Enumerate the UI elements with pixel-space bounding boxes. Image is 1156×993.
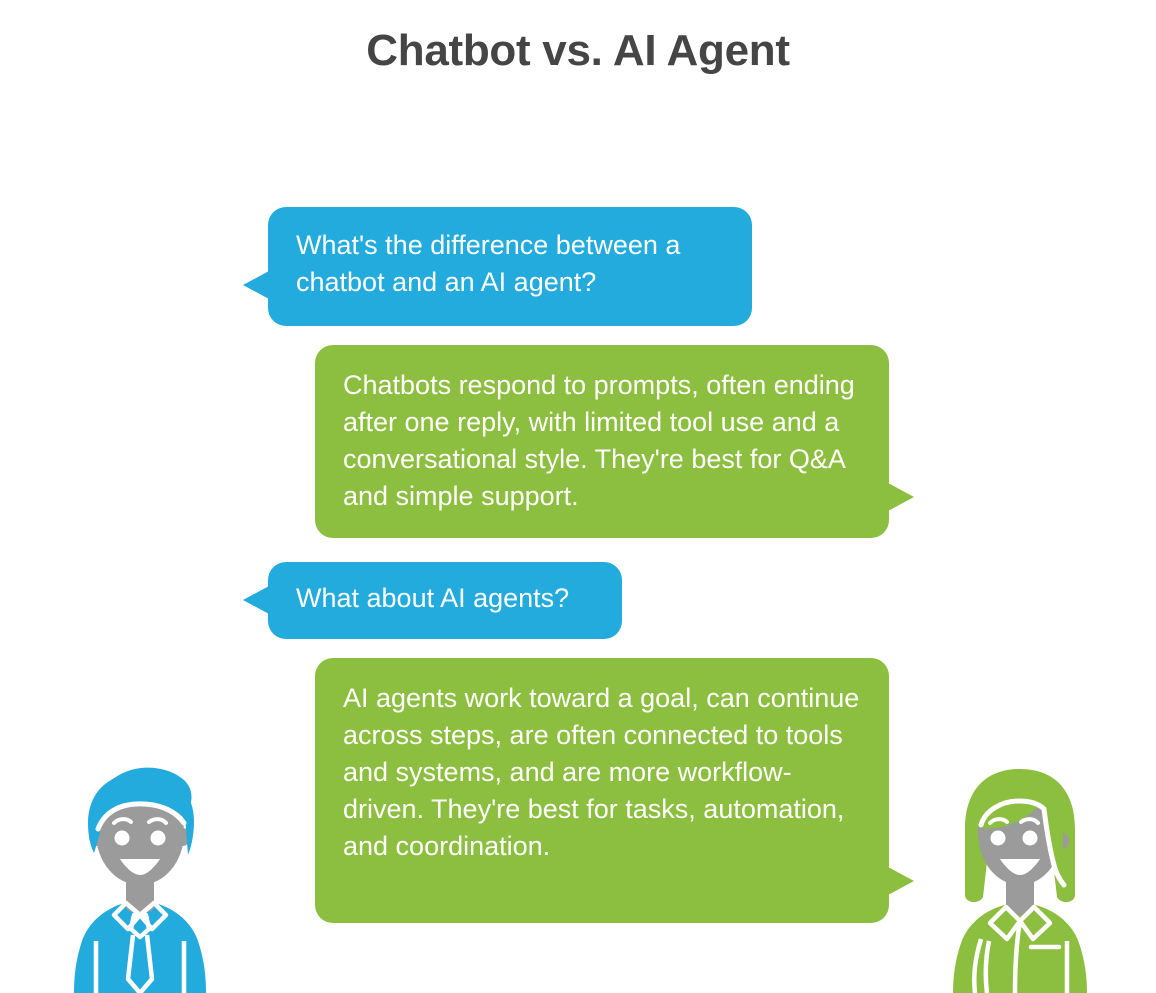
avatar-male-user	[70, 725, 210, 993]
chat-bubble-text: What about AI agents?	[296, 580, 596, 617]
bubble-tail-right-icon	[888, 483, 914, 511]
chat-bubble-text: AI agents work toward a goal, can contin…	[343, 680, 867, 865]
eye-right	[1023, 831, 1038, 846]
bubble-tail-left-icon	[243, 586, 269, 614]
bubble-tail-right-icon	[888, 867, 914, 895]
page-title: Chatbot vs. AI Agent	[0, 26, 1156, 76]
chat-bubble-assistant-answer-1: Chatbots respond to prompts, often endin…	[315, 345, 889, 538]
chat-bubble-assistant-answer-2: AI agents work toward a goal, can contin…	[315, 658, 889, 923]
avatar-female-assistant	[945, 725, 1095, 993]
eye-left	[991, 831, 1006, 846]
chat-bubble-text: What's the difference between a chatbot …	[296, 227, 726, 301]
bubble-tail-left-icon	[243, 271, 269, 299]
chat-bubble-text: Chatbots respond to prompts, often endin…	[343, 367, 867, 515]
eye-right	[151, 831, 166, 846]
chat-bubble-user-question-2: What about AI agents?	[268, 562, 622, 639]
chat-bubble-user-question-1: What's the difference between a chatbot …	[268, 207, 752, 326]
eye-left	[115, 831, 130, 846]
